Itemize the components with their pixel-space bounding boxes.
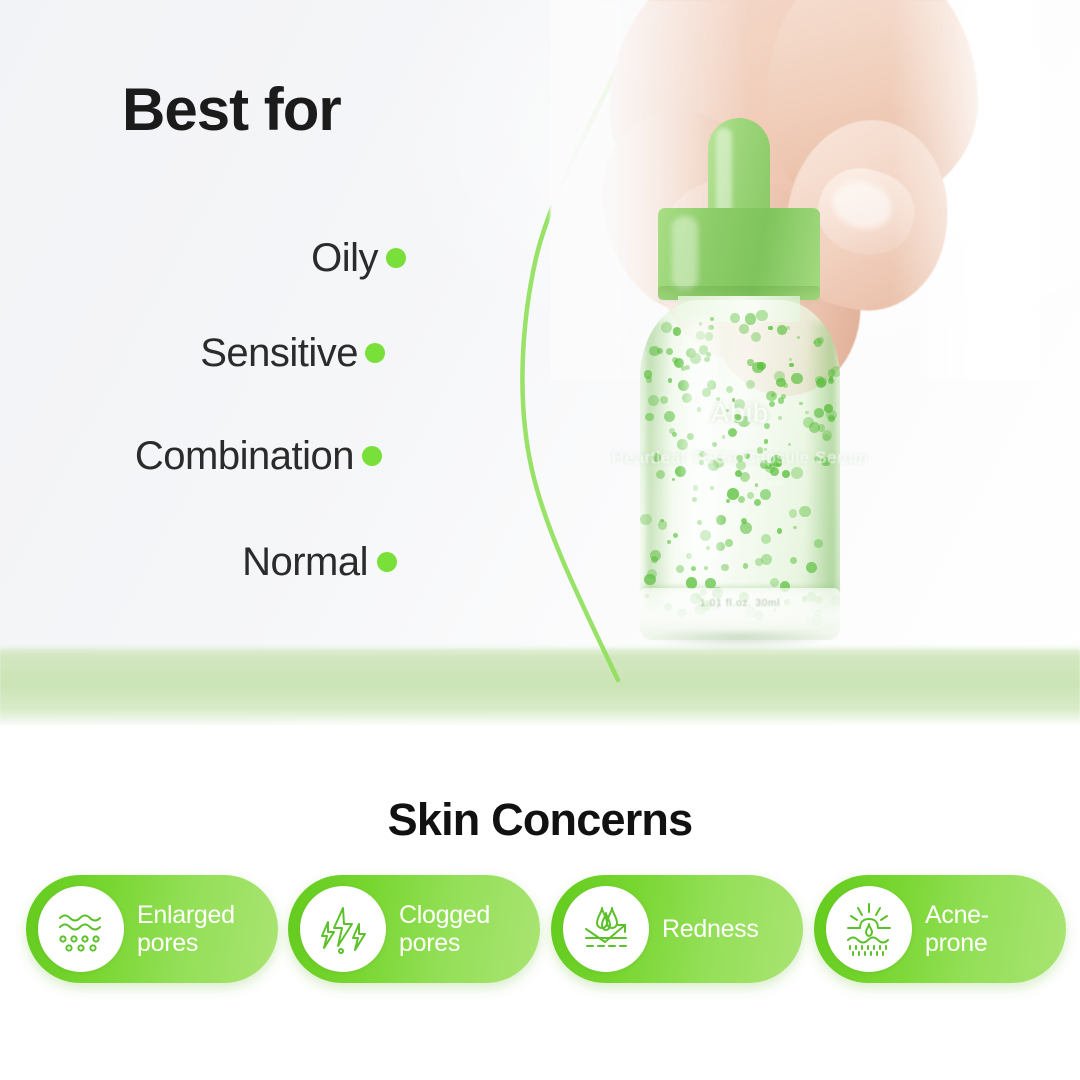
concern-label-line1: Redness xyxy=(662,915,759,943)
bottle-volume: 1.01 fl.oz. 30ml xyxy=(560,598,920,609)
curve-dot-normal xyxy=(377,552,397,572)
concern-pill-row: Enlarged pores Clogged pores xyxy=(0,875,1080,990)
bottle-subtitle: Capsule Serum xyxy=(560,478,920,489)
bottle-product-name: Heartleaf TECA Capsule Serum xyxy=(560,448,920,468)
hand-right-fade xyxy=(890,0,1040,380)
concern-label-line2: pores xyxy=(137,929,235,957)
bottle-brand-label: Abib xyxy=(560,398,920,429)
concern-pill-label: Clogged pores xyxy=(399,901,490,957)
pores-waves-icon xyxy=(38,886,124,972)
curve-dot-combination xyxy=(362,446,382,466)
skin-type-item-combination: Combination xyxy=(135,434,354,479)
concern-pill-label: Acne- prone xyxy=(925,901,989,957)
concern-pill-acne-prone[interactable]: Acne- prone xyxy=(814,875,1066,983)
dropper-bulb-highlight xyxy=(716,128,732,218)
concern-pill-redness[interactable]: Redness xyxy=(551,875,803,983)
droplets-skin-icon xyxy=(563,886,649,972)
concern-pill-label: Enlarged pores xyxy=(137,901,235,957)
bottle-highlight xyxy=(684,318,718,568)
hero-section: Best for Oily Sensitive Combination Norm… xyxy=(0,0,1080,725)
product-marketing-canvas: Best for Oily Sensitive Combination Norm… xyxy=(0,0,1080,1080)
skin-concerns-section: Skin Concerns Enlarged pores xyxy=(0,725,1080,1080)
bottle-shadow xyxy=(646,632,836,648)
concern-pill-clogged-pores[interactable]: Clogged pores xyxy=(288,875,540,983)
concern-pill-label: Redness xyxy=(662,915,759,943)
curve-dot-oily xyxy=(386,248,406,268)
concern-label-line1: Acne- xyxy=(925,901,989,929)
pimple-sun-icon xyxy=(826,886,912,972)
dropper-cap-highlight xyxy=(672,216,698,290)
concern-label-line1: Clogged xyxy=(399,901,490,929)
lightning-bolts-icon xyxy=(300,886,386,972)
concern-label-line2: prone xyxy=(925,929,989,957)
concern-pill-enlarged-pores[interactable]: Enlarged pores xyxy=(26,875,278,983)
section-title: Skin Concerns xyxy=(0,794,1080,846)
concern-label-line1: Enlarged xyxy=(137,901,235,929)
curve-dot-sensitive xyxy=(365,343,385,363)
concern-label-line2: pores xyxy=(399,929,490,957)
product-photo: Abib Heartleaf TECA Capsule Serum Capsul… xyxy=(560,0,1020,680)
